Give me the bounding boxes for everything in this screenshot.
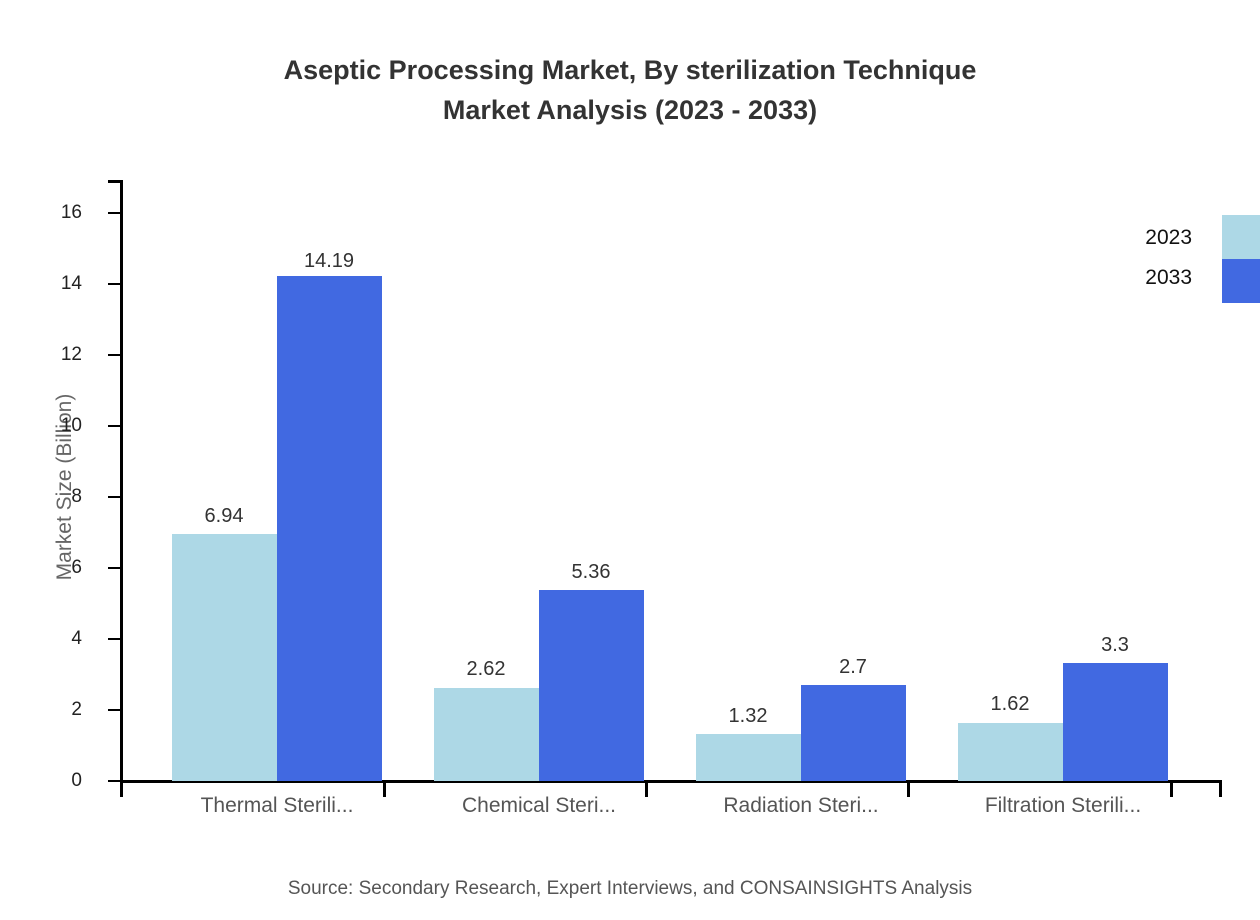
x-tick-mark [120,783,123,797]
y-tick-mark [108,283,120,285]
bar-2033-radiation[interactable] [801,685,906,781]
bar-value-label: 2.62 [416,659,556,679]
bar-value-label: 14.19 [259,251,399,271]
bar-2033-thermal[interactable] [277,276,382,781]
chart-title-line-2: Market Analysis (2023 - 2033) [0,90,1260,130]
y-tick-label: 12 [22,345,82,364]
y-tick-label: 6 [22,558,82,577]
chart-title: Aseptic Processing Market, By sterilizat… [0,50,1260,130]
source-note: Source: Secondary Research, Expert Inter… [0,878,1260,900]
y-tick-mark [108,496,120,498]
y-axis-top-tick [108,180,122,183]
y-tick-label: 14 [22,274,82,293]
legend-label-2023[interactable]: 2023 [1072,227,1192,248]
bar-2023-filtration[interactable] [958,723,1063,781]
y-tick-mark [108,780,120,782]
x-tick-label-thermal: Thermal Sterili... [127,794,427,818]
bar-value-label: 1.62 [940,694,1080,714]
bar-value-label: 2.7 [783,657,923,677]
y-tick-label: 16 [22,203,82,222]
y-tick-label: 2 [22,700,82,719]
y-tick-mark [108,709,120,711]
y-tick-mark [108,212,120,214]
bar-value-label: 5.36 [521,562,661,582]
legend-swatch-2023[interactable] [1222,215,1260,259]
y-tick-label: 4 [22,629,82,648]
x-tick-label-chemical: Chemical Steri... [389,794,689,818]
bar-value-label: 1.32 [678,706,818,726]
chart-title-line-1: Aseptic Processing Market, By sterilizat… [284,55,977,85]
y-tick-mark [108,425,120,427]
bar-2023-radiation[interactable] [696,734,801,781]
y-tick-label: 8 [22,487,82,506]
y-tick-label: 10 [22,416,82,435]
bar-value-label: 6.94 [154,506,294,526]
y-axis-line [120,180,123,783]
x-tick-label-radiation: Radiation Steri... [651,794,951,818]
x-tick-mark [1219,783,1222,797]
bar-2033-chemical[interactable] [539,590,644,781]
y-tick-mark [108,638,120,640]
bar-2033-filtration[interactable] [1063,663,1168,781]
bar-value-label: 3.3 [1045,635,1185,655]
legend-label-2033[interactable]: 2033 [1072,267,1192,288]
y-tick-mark [108,567,120,569]
y-tick-mark [108,354,120,356]
bar-chart: Aseptic Processing Market, By sterilizat… [0,0,1260,920]
y-tick-label: 0 [22,771,82,790]
legend-swatch-2033[interactable] [1222,259,1260,303]
bar-2023-thermal[interactable] [172,534,277,781]
x-tick-label-filtration: Filtration Sterili... [913,794,1213,818]
bar-2023-chemical[interactable] [434,688,539,781]
